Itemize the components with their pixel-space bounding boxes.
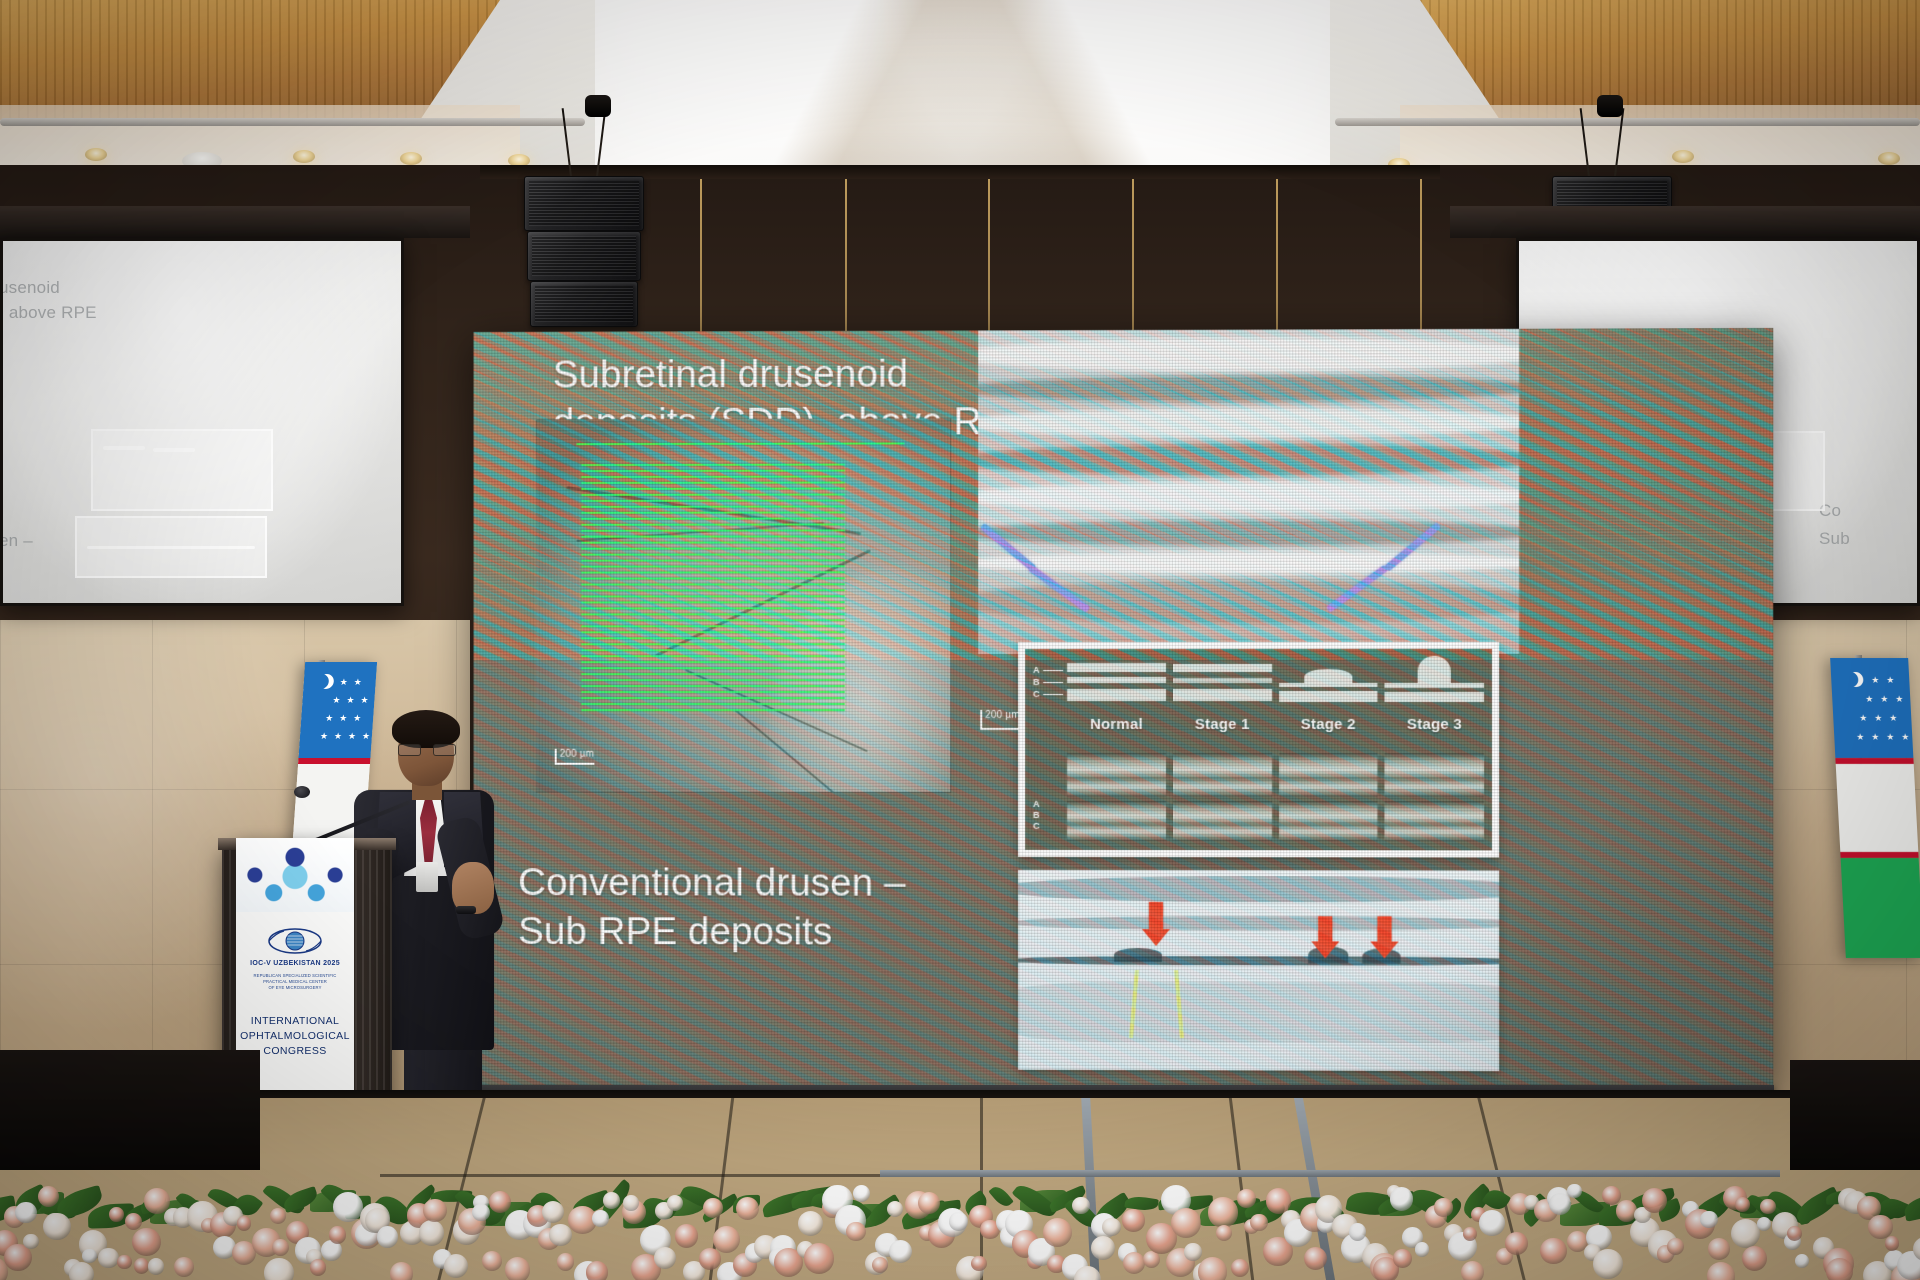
- speaker-box-left-3: [530, 281, 638, 327]
- flag-stripe-blue: [1830, 658, 1913, 758]
- drusen-arrow-1: [1149, 902, 1163, 930]
- layer-label-B: B: [1033, 677, 1039, 688]
- rose-bloom: [1667, 1238, 1684, 1255]
- rose-bloom: [1505, 1232, 1528, 1255]
- schematic-layer-a: [1279, 683, 1378, 687]
- drusen-arrow-2: [1318, 916, 1332, 942]
- rose-bloom: [423, 1199, 447, 1223]
- rose-bloom: [1742, 1246, 1767, 1271]
- rose-bloom: [270, 1208, 286, 1224]
- flag-star-8: ★: [1889, 714, 1898, 723]
- screen-valance-right: [1450, 206, 1920, 238]
- podium-event-title: IOC-V UZBEKISTAN 2025: [236, 960, 354, 967]
- oct-strip-stage-1: [1173, 753, 1272, 797]
- downlight-5: [1672, 150, 1694, 163]
- rose-bloom: [1102, 1218, 1121, 1237]
- rose-bloom: [713, 1226, 740, 1253]
- rose-bloom: [1479, 1210, 1505, 1236]
- side-screen-ghost-figure: [91, 429, 273, 511]
- rose-bloom: [1602, 1186, 1621, 1205]
- downlight-1: [85, 148, 107, 161]
- rose-bloom: [482, 1251, 503, 1272]
- rose-bloom: [1393, 1249, 1412, 1268]
- rose-bloom: [949, 1212, 968, 1231]
- oct-strip-cell-3-2: [1385, 801, 1484, 841]
- flag-star-9: ★: [320, 732, 329, 741]
- glasses-lens-right: [433, 744, 456, 756]
- rose-bloom: [1708, 1238, 1730, 1260]
- rose-bloom: [1461, 1261, 1484, 1280]
- rose-bloom: [23, 1234, 39, 1250]
- podium-congress-line-2: OPHTALMOLOGICAL: [236, 1029, 354, 1044]
- layer-pointer-A: [1043, 670, 1063, 671]
- side-screen-ghost-line-1: [103, 446, 145, 450]
- schematic-layer-a: [1385, 683, 1484, 688]
- flag-star-7: ★: [1874, 714, 1883, 723]
- oct-choroid-shadow: [1018, 982, 1499, 1043]
- rose-bloom: [272, 1239, 289, 1256]
- flag-star-3: ★: [1865, 695, 1874, 704]
- podium-congress-line-1: INTERNATIONAL: [236, 1014, 354, 1029]
- rose-bloom: [1700, 1211, 1717, 1228]
- glasses-lens-left: [398, 744, 421, 756]
- side-screen-ghost-subtitle: Sub: [1819, 529, 1850, 549]
- foliage: [1902, 1193, 1920, 1221]
- rose-bloom: [132, 1228, 161, 1257]
- rose-bloom: [654, 1247, 676, 1269]
- rose-bloom: [1593, 1249, 1623, 1279]
- side-screen-ghost-line-2: [153, 448, 195, 452]
- schematic-layer-c: [1067, 689, 1166, 701]
- rose-bloom: [1304, 1247, 1327, 1270]
- layer-label-C-lower: C: [1033, 821, 1039, 832]
- flag-star-5: ★: [1895, 695, 1904, 704]
- rose-bloom: [1549, 1193, 1571, 1215]
- speaker-grill: [535, 286, 633, 322]
- downlight-3: [400, 152, 422, 165]
- rose-bloom: [69, 1262, 94, 1280]
- rose-bloom: [125, 1213, 142, 1230]
- rose-bloom: [505, 1257, 530, 1280]
- rose-bloom: [1540, 1238, 1567, 1265]
- presenter-wristwatch: [456, 906, 476, 914]
- rose-bloom: [1735, 1197, 1750, 1212]
- rose-bloom: [1184, 1243, 1201, 1260]
- track-light-right: [1335, 118, 1920, 126]
- rose-bloom: [557, 1253, 575, 1271]
- rose-bloom: [586, 1261, 608, 1280]
- schematic-layer-b: [1067, 677, 1166, 683]
- speaker-box-left-1: [524, 176, 644, 231]
- ceiling-wood-panel-left: [0, 0, 500, 120]
- oct-strip-cell-2: [1279, 753, 1378, 797]
- layer-pointer-B: [1043, 682, 1063, 683]
- rose-bloom: [264, 1258, 294, 1280]
- rose-bloom: [82, 1249, 96, 1263]
- flag-star-10: ★: [1871, 733, 1880, 742]
- stage-cell-3: Stage 3: [1385, 655, 1484, 733]
- stage-label-2: Stage 2: [1279, 716, 1378, 733]
- schematic-layer-c: [1385, 692, 1484, 702]
- rose-bloom: [117, 1255, 132, 1270]
- flag-stripe-green: [1841, 858, 1920, 958]
- podium-org-line-1: REPUBLICAN SPECIALIZED SCIENTIFIC: [242, 973, 348, 978]
- schematic-layer-b: [1173, 678, 1272, 683]
- flag-star-4: ★: [346, 696, 355, 705]
- speaker-box-left-2: [527, 231, 641, 281]
- eye-logo: [265, 926, 325, 956]
- rose-bloom: [1237, 1189, 1256, 1208]
- podium-ornament-top: [236, 838, 354, 912]
- rose-bloom: [918, 1192, 940, 1214]
- rose-bloom: [1885, 1236, 1900, 1251]
- schematic-layer-a: [1067, 663, 1166, 672]
- downlight-2: [293, 150, 315, 163]
- led-moire-overlay-top: [474, 328, 1774, 660]
- layer-label-A: A: [1033, 665, 1039, 676]
- side-screen-ghost-bottom: en –: [0, 531, 33, 551]
- side-screen-ghost-subtitle: , above RPE: [0, 303, 97, 323]
- rose-bloom: [472, 1204, 490, 1222]
- schematic-stage-2: [1279, 655, 1378, 711]
- oct-strip-stage-2: [1279, 753, 1378, 797]
- side-screen-ghost-oct-line: [87, 546, 255, 549]
- rose-bloom: [846, 1222, 865, 1241]
- podium-org-line-3: OF EYE MICROSURGERY: [242, 985, 348, 990]
- presenter-hair: [392, 710, 460, 748]
- rose-bloom: [549, 1224, 572, 1247]
- drusen-elevation-1: [1114, 948, 1162, 962]
- rose-bloom: [1043, 1218, 1072, 1247]
- rose-bloom: [675, 1224, 698, 1247]
- schematic-layer-c: [1279, 691, 1378, 702]
- rose-bloom: [1231, 1259, 1249, 1277]
- rose-bloom: [736, 1197, 759, 1220]
- flag-star-8: ★: [353, 714, 362, 723]
- oct-strip-normal-detail: [1067, 801, 1166, 841]
- fundus-scale-bar: 200 µm: [555, 749, 594, 765]
- speaker-grill: [529, 181, 639, 226]
- flag-star-3: ★: [332, 696, 341, 705]
- speaker-motor-right: [1597, 95, 1623, 117]
- speaker-motor-left: [585, 95, 611, 117]
- rose-bloom: [419, 1220, 445, 1246]
- rose-bloom: [333, 1192, 363, 1222]
- staging-schematic-row: Normal Stage 1: [1067, 655, 1484, 733]
- rose-bloom: [667, 1195, 683, 1211]
- microphone-capsule-icon: [294, 786, 310, 798]
- schematic-stage-1: [1173, 655, 1272, 711]
- rose-bloom: [1091, 1236, 1115, 1260]
- flag-star-12: ★: [1901, 733, 1910, 742]
- rose-bloom: [699, 1248, 721, 1270]
- flag-star-12: ★: [362, 732, 371, 741]
- flag-star-2: ★: [1886, 676, 1895, 685]
- rose-bloom: [329, 1226, 346, 1243]
- screen-valance-left: [0, 206, 470, 238]
- rose-bloom: [1390, 1187, 1413, 1210]
- flag-star-4: ★: [1880, 695, 1889, 704]
- rose-bloom: [390, 1262, 413, 1280]
- presenter-lanyard-badge: [416, 862, 438, 892]
- rose-bloom: [592, 1210, 609, 1227]
- rose-bloom: [1415, 1242, 1429, 1256]
- flag-star-11: ★: [348, 732, 357, 741]
- rose-bloom: [444, 1254, 468, 1278]
- flag-star-9: ★: [1856, 733, 1865, 742]
- rose-bloom: [623, 1195, 639, 1211]
- rose-bloom: [853, 1185, 870, 1202]
- rose-bloom: [1795, 1254, 1809, 1268]
- oct-strip-stage-1-detail: [1173, 801, 1272, 841]
- podium-org-line-2: PRACTICAL MEDICAL CENTER: [242, 979, 348, 984]
- flag-stripe-white: [1836, 764, 1919, 852]
- rose-bloom: [310, 1259, 326, 1275]
- flower-arrangement: [0, 1140, 1920, 1280]
- oct-strip-cell-1-2: [1173, 801, 1272, 841]
- flag-star-5: ★: [360, 696, 369, 705]
- sdd-staging-figure: A B C Normal: [1018, 642, 1499, 858]
- ceiling-wood-panel-right: [1420, 0, 1920, 120]
- rose-bloom: [377, 1226, 399, 1248]
- rose-bloom: [804, 1243, 835, 1274]
- layer-label-A-lower: A: [1033, 799, 1039, 810]
- rose-bloom: [1567, 1184, 1581, 1198]
- oct-strip-stage-3: [1385, 753, 1484, 797]
- rose-bloom: [1731, 1219, 1761, 1249]
- rose-bloom: [603, 1192, 620, 1209]
- rose-bloom: [174, 1257, 194, 1277]
- conference-presentation-photo: usenoid , above RPE en – Co Sub Subretin…: [0, 0, 1920, 1280]
- rose-bloom: [798, 1211, 823, 1236]
- flag-star-2: ★: [353, 678, 362, 687]
- flag-star-10: ★: [334, 732, 343, 741]
- oct-inner-layer: [1018, 916, 1499, 931]
- stage-cell-2: Stage 2: [1279, 655, 1378, 733]
- rose-bloom: [887, 1201, 903, 1217]
- layer-label-C: C: [1033, 689, 1039, 700]
- rose-bloom: [1760, 1199, 1776, 1215]
- stage-label-normal: Normal: [1067, 716, 1166, 733]
- flag-star-6: ★: [1859, 714, 1868, 723]
- rose-bloom: [1216, 1225, 1232, 1241]
- rose-bloom: [109, 1207, 124, 1222]
- side-screen-ghost-title: usenoid: [0, 278, 60, 298]
- main-led-video-wall: Subretinal drusenoid deposits (SDD), abo…: [474, 328, 1774, 1092]
- drusen-arrow-3: [1377, 916, 1391, 942]
- rose-bloom: [237, 1216, 251, 1230]
- staging-oct-row-lower: [1067, 801, 1484, 841]
- stage-label-1: Stage 1: [1173, 716, 1272, 733]
- oct-rpe-line: [1018, 956, 1499, 966]
- stage-cell-1: Stage 1: [1173, 655, 1272, 733]
- side-projection-screen-left: usenoid , above RPE en –: [0, 238, 404, 606]
- rose-bloom: [872, 1257, 888, 1273]
- oct-retina-surface: [1018, 876, 1499, 903]
- layer-pointer-C: [1043, 694, 1063, 695]
- staging-figure-scale-bar: 200 µm: [980, 710, 1020, 730]
- rose-bloom: [1707, 1262, 1735, 1280]
- stage-cell-normal: Normal: [1067, 655, 1166, 733]
- staging-oct-row-upper: [1067, 753, 1484, 797]
- rose-bloom: [489, 1191, 511, 1213]
- rose-bloom: [1250, 1214, 1268, 1232]
- flag-star-11: ★: [1886, 733, 1895, 742]
- schematic-layer-a: [1173, 664, 1272, 672]
- schematic-normal: [1067, 655, 1166, 711]
- flag-star-1: ★: [339, 678, 348, 687]
- track-light-left: [0, 118, 585, 126]
- layer-label-B-lower: B: [1033, 810, 1039, 821]
- rose-bloom: [1122, 1209, 1144, 1231]
- crescent-moon-icon: [1843, 672, 1859, 687]
- downlight-6: [1878, 152, 1900, 165]
- uzbekistan-flag-right: ★ ★ ★ ★ ★ ★ ★ ★ ★ ★ ★ ★: [1830, 658, 1920, 958]
- oct-strip-cell-2-2: [1279, 801, 1378, 841]
- staging-figure-inner: A B C Normal: [1025, 649, 1492, 851]
- rose-bloom: [1123, 1252, 1145, 1274]
- flag-star-6: ★: [325, 714, 334, 723]
- schematic-stage-3: [1385, 655, 1484, 711]
- rose-bloom: [1072, 1197, 1089, 1214]
- flag-star-7: ★: [339, 714, 348, 723]
- rose-bloom: [889, 1240, 912, 1263]
- rose-bloom: [1826, 1258, 1853, 1280]
- rose-bloom: [1171, 1208, 1201, 1238]
- rose-bloom: [1434, 1198, 1452, 1216]
- oct-strip-cell-normal: [1067, 753, 1166, 797]
- rose-bloom: [43, 1213, 71, 1241]
- oct-strip-cell-1: [1173, 753, 1272, 797]
- stage-label-3: Stage 3: [1385, 716, 1484, 733]
- flag-star-1: ★: [1871, 676, 1880, 685]
- rose-bloom: [1757, 1217, 1771, 1231]
- schematic-layer-c: [1173, 689, 1272, 701]
- speaker-grill: [532, 236, 636, 276]
- rose-bloom: [98, 1248, 118, 1268]
- rose-bloom: [703, 1198, 723, 1218]
- presenter-glasses: [398, 744, 456, 756]
- oct-strip-stage-2-detail: [1279, 801, 1378, 841]
- ceiling-soffit: [595, 0, 1330, 175]
- foliage: [988, 1183, 1014, 1210]
- oct-bscan-conventional-drusen: [1018, 870, 1499, 1071]
- oct-strip-cell-normal-2: [1067, 801, 1166, 841]
- flower-cluster: [0, 1140, 1920, 1280]
- rose-bloom: [1198, 1257, 1227, 1280]
- oct-strip-stage-3-detail: [1385, 801, 1484, 841]
- rose-bloom: [971, 1256, 986, 1271]
- rose-bloom: [148, 1258, 165, 1275]
- oct-strip-normal: [1067, 753, 1166, 797]
- rose-bloom: [15, 1202, 37, 1224]
- rose-bloom: [542, 1201, 564, 1223]
- flag-stripe-blue: [298, 662, 377, 758]
- oct-strip-cell-3: [1385, 753, 1484, 797]
